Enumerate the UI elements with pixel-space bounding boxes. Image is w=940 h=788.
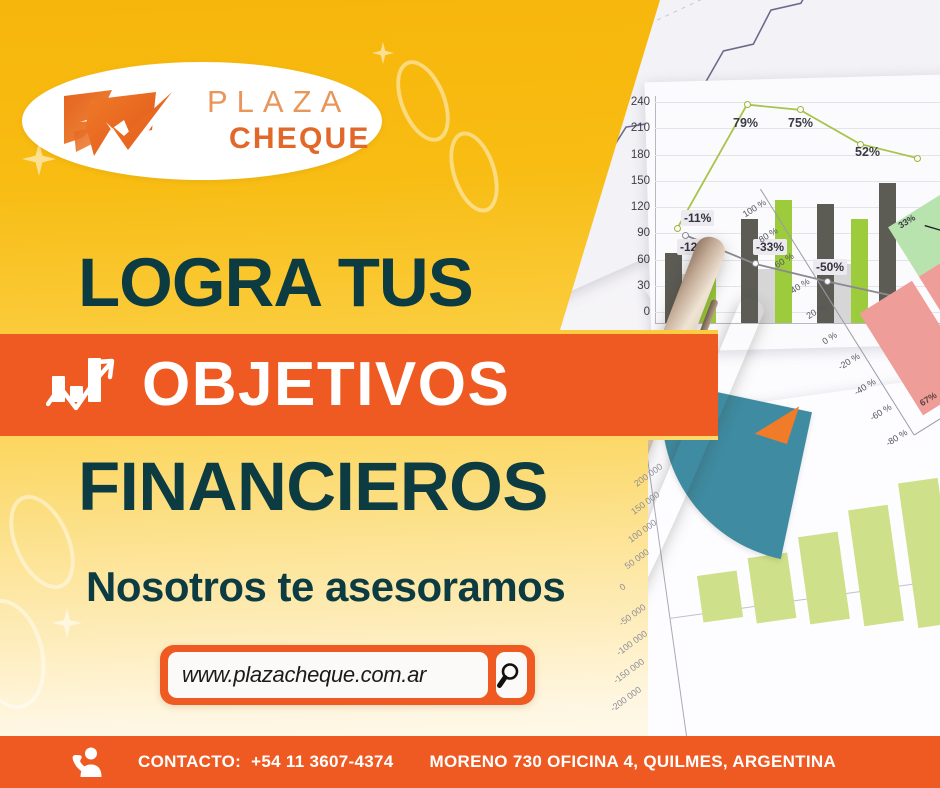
percent-y-tick: -40 %: [852, 376, 877, 397]
footer-phone[interactable]: +54 11 3607-4374: [251, 752, 393, 771]
website-cta-bar[interactable]: [160, 645, 535, 705]
headline-orange-band: OBJETIVOS: [0, 334, 718, 436]
advertisement-banner: 0306090120150180210240 79%75%52%-11%-12%…: [0, 0, 940, 788]
chart-y-tick: 60: [637, 254, 650, 266]
logo[interactable]: PLAZA CHEQUE: [22, 62, 382, 180]
chart-y-tick: 0: [644, 306, 650, 318]
headline-line-2: OBJETIVOS: [142, 354, 510, 416]
chart-point: [797, 106, 804, 113]
footer-contact: CONTACTO: +54 11 3607-4374: [138, 752, 394, 772]
chart-y-tick: 240: [631, 96, 650, 108]
chart-data-label: -11%: [681, 210, 714, 226]
headline-line-1: LOGRA TUS: [78, 248, 473, 317]
headline-line-3: FINANCIEROS: [78, 452, 548, 521]
logo-wordmark: PLAZA CHEQUE: [207, 86, 371, 156]
chart-y-tick: 120: [631, 201, 650, 213]
chart-y-tick: 180: [631, 149, 650, 161]
chart-y-tick: 30: [637, 280, 650, 292]
chart-data-label: 75%: [788, 116, 813, 130]
website-url-input[interactable]: [168, 652, 488, 698]
percent-y-tick: -20 %: [836, 351, 861, 372]
logo-cheque-text: CHEQUE: [229, 122, 371, 157]
search-button[interactable]: [496, 652, 527, 698]
chart-y-tick: 90: [637, 227, 650, 239]
chart-y-tick: 150: [631, 175, 650, 187]
chart-point: [674, 225, 681, 232]
logo-plaza-text: PLAZA: [207, 86, 371, 119]
contact-phone-person-icon: [72, 746, 102, 778]
bar-chart-growth-arrow-icon: [46, 354, 116, 416]
search-magnifier-icon: [497, 660, 527, 690]
footer-address: MORENO 730 OFICINA 4, QUILMES, ARGENTINA: [430, 752, 837, 772]
footer-bar: CONTACTO: +54 11 3607-4374 MORENO 730 OF…: [0, 736, 940, 788]
chart-point: [752, 260, 759, 267]
headline-subline: Nosotros te asesoramos: [86, 566, 565, 608]
stacked-cheques-checkmark-icon: [60, 86, 200, 166]
footer-contact-label: CONTACTO:: [138, 752, 241, 771]
bottom-chart-bar: [697, 570, 743, 622]
chart-point: [744, 101, 751, 108]
percent-y-tick: 0 %: [820, 330, 838, 347]
chart-data-label: 79%: [733, 116, 758, 130]
chart-point: [682, 232, 689, 239]
chart-y-tick: 210: [631, 122, 650, 134]
